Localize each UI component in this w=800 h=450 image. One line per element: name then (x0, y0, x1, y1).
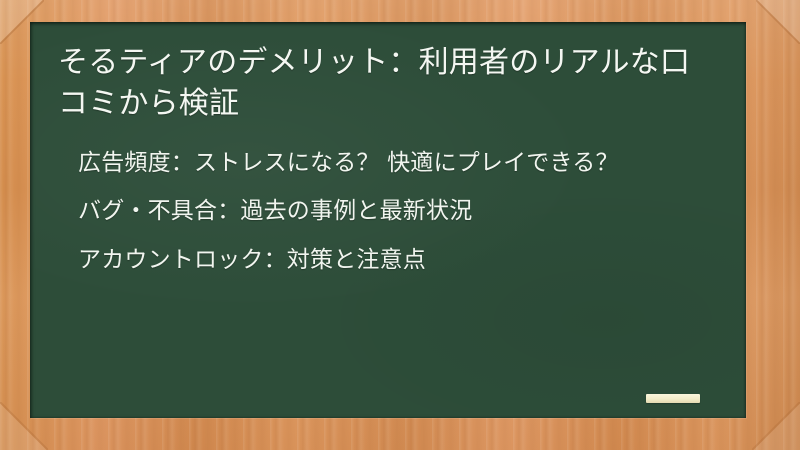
page-title: そるティアのデメリット：利用者のリアルな口コミから検証 (56, 42, 720, 125)
chalk-stick-icon (646, 394, 700, 403)
frame-corner-bottom-right (752, 402, 800, 450)
list-item: 広告頻度：ストレスになる？ 快適にプレイできる？ (78, 147, 720, 180)
wooden-frame: そるティアのデメリット：利用者のリアルな口コミから検証 広告頻度：ストレスになる… (0, 0, 800, 450)
heading-list: 広告頻度：ストレスになる？ 快適にプレイできる？ バグ・不具合：過去の事例と最新… (56, 147, 720, 277)
chalkboard: そるティアのデメリット：利用者のリアルな口コミから検証 広告頻度：ストレスになる… (30, 22, 746, 418)
list-item: アカウントロック：対策と注意点 (78, 244, 720, 277)
list-item: バグ・不具合：過去の事例と最新状況 (78, 195, 720, 228)
frame-corner-top-right (756, 0, 800, 44)
